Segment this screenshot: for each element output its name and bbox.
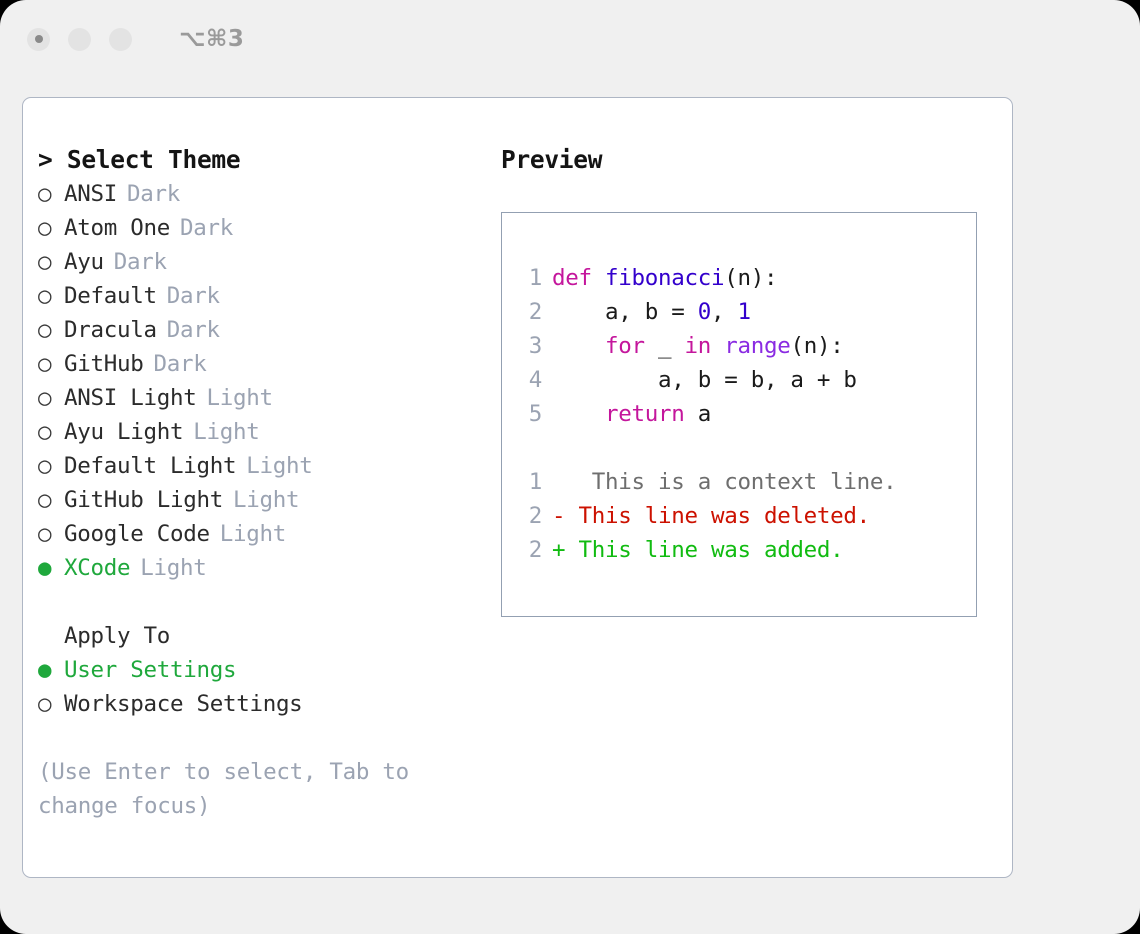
code-token: (n): (790, 333, 843, 359)
spacer (143, 351, 153, 377)
diff-text: This is a context line. (565, 469, 896, 495)
radio-selected-icon[interactable]: ● (38, 653, 64, 687)
theme-kind-label: Light (206, 385, 272, 411)
spacer (236, 453, 246, 479)
title-bar: ⌥⌘3 (0, 0, 1140, 78)
line-number: 3 (516, 329, 542, 363)
theme-name: ANSI (64, 181, 117, 207)
spacer (223, 487, 233, 513)
code-line: 5 return a (516, 397, 970, 431)
code-diff-separator (516, 431, 970, 465)
diff-text: This line was added. (565, 537, 843, 563)
radio-unselected-icon[interactable]: ○ (38, 313, 64, 347)
code-token: 0 (698, 299, 711, 325)
theme-name: Ayu Light (64, 419, 183, 445)
apply-to-heading: Apply To (38, 619, 478, 653)
spacer (130, 555, 140, 581)
preview-code-box: 1def fibonacci(n):2 a, b = 0, 13 for _ i… (501, 212, 977, 617)
theme-list-item[interactable]: ○Atom One Dark (38, 211, 478, 245)
code-line: 1def fibonacci(n): (516, 261, 970, 295)
code-token: in (685, 333, 712, 359)
traffic-light-group (27, 28, 132, 51)
spacer (104, 249, 114, 275)
code-line: 3 for _ in range(n): (516, 329, 970, 363)
radio-unselected-icon[interactable]: ○ (38, 517, 64, 551)
preview-heading: Preview (501, 143, 1001, 177)
theme-list-item[interactable]: ○Ayu Dark (38, 245, 478, 279)
radio-unselected-icon[interactable]: ○ (38, 211, 64, 245)
spacer (183, 419, 193, 445)
code-token: def (552, 265, 592, 291)
apply-to-item[interactable]: ○Workspace Settings (38, 687, 478, 721)
active-indicator-dot (35, 35, 43, 43)
code-token: a, b = b, a + b (552, 367, 857, 393)
code-token: for (605, 333, 645, 359)
radio-unselected-icon[interactable]: ○ (38, 449, 64, 483)
keyboard-hint-text: (Use Enter to select, Tab to change focu… (38, 755, 438, 823)
diff-sign (552, 469, 565, 495)
theme-name: Dracula (64, 317, 157, 343)
theme-name: GitHub Light (64, 487, 223, 513)
theme-kind-label: Dark (180, 215, 233, 241)
theme-name: ANSI Light (64, 385, 196, 411)
theme-kind-label: Light (246, 453, 312, 479)
window-close-button[interactable] (27, 28, 50, 51)
radio-unselected-icon[interactable]: ○ (38, 483, 64, 517)
radio-unselected-icon[interactable]: ○ (38, 415, 64, 449)
code-token (592, 265, 605, 291)
spacer (196, 385, 206, 411)
theme-list[interactable]: ○ANSI Dark○Atom One Dark○Ayu Dark○Defaul… (38, 177, 478, 585)
spacer (157, 317, 167, 343)
radio-unselected-icon[interactable]: ○ (38, 347, 64, 381)
code-token: (n): (724, 265, 777, 291)
apply-to-label: User Settings (64, 657, 236, 683)
theme-kind-label: Light (140, 555, 206, 581)
apply-to-section: Apply To ●User Settings○Workspace Settin… (38, 619, 478, 721)
diff-sign: - (552, 503, 565, 529)
theme-name: XCode (64, 555, 130, 581)
window-maximize-button[interactable] (109, 28, 132, 51)
diff-line: 1 This is a context line. (516, 465, 970, 499)
line-number: 2 (516, 499, 542, 533)
theme-list-item[interactable]: ○Default Light Light (38, 449, 478, 483)
theme-kind-label: Light (233, 487, 299, 513)
diff-text: This line was deleted. (565, 503, 870, 529)
theme-name: Default (64, 283, 157, 309)
theme-list-item[interactable]: ○Google Code Light (38, 517, 478, 551)
diff-line: 2+ This line was added. (516, 533, 970, 567)
radio-unselected-icon[interactable]: ○ (38, 245, 64, 279)
theme-kind-label: Dark (167, 317, 220, 343)
radio-unselected-icon[interactable]: ○ (38, 177, 64, 211)
line-number: 2 (516, 295, 542, 329)
line-number: 5 (516, 397, 542, 431)
keyboard-shortcut-label: ⌥⌘3 (179, 26, 244, 52)
theme-name: Default Light (64, 453, 236, 479)
apply-to-label: Workspace Settings (64, 691, 302, 717)
diff-sign: + (552, 537, 565, 563)
radio-unselected-icon[interactable]: ○ (38, 279, 64, 313)
theme-kind-label: Dark (153, 351, 206, 377)
theme-list-item[interactable]: ○ANSI Dark (38, 177, 478, 211)
spacer (210, 521, 220, 547)
spacer (170, 215, 180, 241)
radio-selected-icon[interactable]: ● (38, 551, 64, 585)
code-token: fibonacci (605, 265, 724, 291)
theme-name: GitHub (64, 351, 143, 377)
code-token: a, b = (552, 299, 698, 325)
theme-kind-label: Light (220, 521, 286, 547)
theme-kind-label: Dark (127, 181, 180, 207)
theme-list-item[interactable]: ●XCode Light (38, 551, 478, 585)
line-number: 4 (516, 363, 542, 397)
preview-column: Preview 1def fibonacci(n):2 a, b = 0, 13… (501, 143, 1001, 617)
theme-list-item[interactable]: ○ANSI Light Light (38, 381, 478, 415)
diff-line: 2- This line was deleted. (516, 499, 970, 533)
radio-unselected-icon[interactable]: ○ (38, 687, 64, 721)
code-token: _ (645, 333, 685, 359)
code-line: 2 a, b = 0, 1 (516, 295, 970, 329)
theme-kind-label: Dark (114, 249, 167, 275)
radio-unselected-icon[interactable]: ○ (38, 381, 64, 415)
code-token: return (605, 401, 684, 427)
select-theme-heading: > Select Theme (38, 143, 478, 177)
theme-selector-column: > Select Theme ○ANSI Dark○Atom One Dark○… (38, 143, 478, 823)
theme-list-item[interactable]: ○Dracula Dark (38, 313, 478, 347)
theme-list-item[interactable]: ○Ayu Light Light (38, 415, 478, 449)
code-sample: 1def fibonacci(n):2 a, b = 0, 13 for _ i… (516, 261, 970, 567)
code-token: range (724, 333, 790, 359)
theme-name: Atom One (64, 215, 170, 241)
spacer (157, 283, 167, 309)
code-token (552, 333, 605, 359)
line-number: 2 (516, 533, 542, 567)
window-minimize-button[interactable] (68, 28, 91, 51)
code-token: 1 (737, 299, 750, 325)
main-panel: > Select Theme ○ANSI Dark○Atom One Dark○… (22, 97, 1013, 878)
theme-kind-label: Light (193, 419, 259, 445)
code-token: , (711, 299, 738, 325)
code-token (552, 401, 605, 427)
theme-list-item[interactable]: ○GitHub Dark (38, 347, 478, 381)
code-line: 4 a, b = b, a + b (516, 363, 970, 397)
line-number: 1 (516, 465, 542, 499)
spacer (117, 181, 127, 207)
apply-to-list[interactable]: ●User Settings○Workspace Settings (38, 653, 478, 721)
app-window: ⌥⌘3 > Select Theme ○ANSI Dark○Atom One D… (0, 0, 1140, 934)
line-number: 1 (516, 261, 542, 295)
code-token (711, 333, 724, 359)
apply-to-item[interactable]: ●User Settings (38, 653, 478, 687)
theme-name: Google Code (64, 521, 210, 547)
code-token: a (684, 401, 711, 427)
theme-list-item[interactable]: ○GitHub Light Light (38, 483, 478, 517)
theme-list-item[interactable]: ○Default Dark (38, 279, 478, 313)
theme-kind-label: Dark (167, 283, 220, 309)
theme-name: Ayu (64, 249, 104, 275)
